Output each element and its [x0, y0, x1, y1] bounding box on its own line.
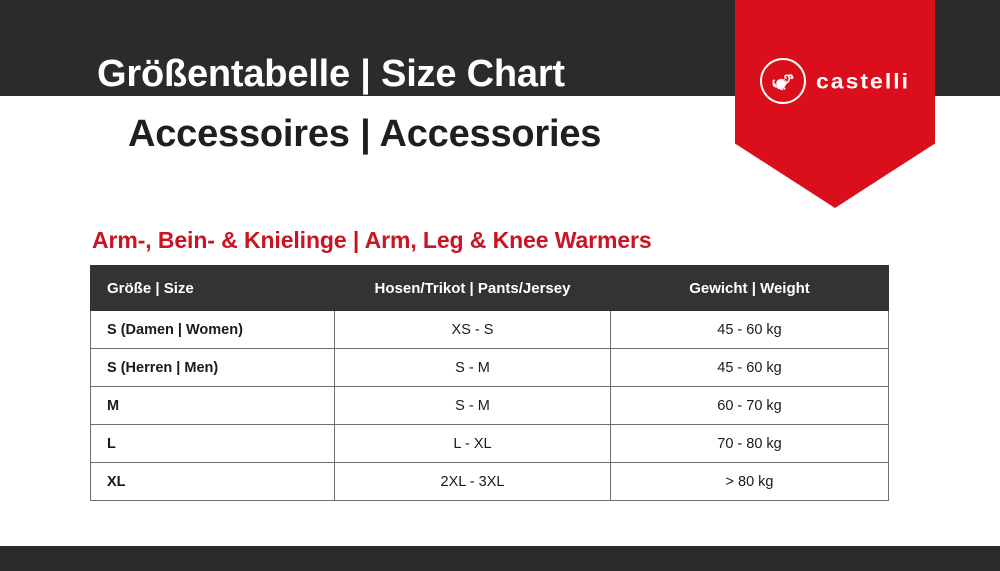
cell-weight: 45 - 60 kg [611, 349, 889, 387]
column-header-size: Größe | Size [91, 266, 335, 311]
table-row: S (Herren | Men) S - M 45 - 60 kg [91, 349, 889, 387]
column-header-fit: Hosen/Trikot | Pants/Jersey [335, 266, 611, 311]
cell-fit: 2XL - 3XL [335, 463, 611, 501]
table-row: XL 2XL - 3XL > 80 kg [91, 463, 889, 501]
section-heading: Arm-, Bein- & Knielinge | Arm, Leg & Kne… [92, 229, 652, 252]
brand-logo-banner: castelli [735, 0, 935, 208]
column-header-weight: Gewicht | Weight [611, 266, 889, 311]
table-header-row: Größe | Size Hosen/Trikot | Pants/Jersey… [91, 266, 889, 311]
cell-size: XL [91, 463, 335, 501]
bottom-dark-band [0, 546, 1000, 571]
brand-logo-lockup: castelli [735, 58, 935, 104]
table-row: S (Damen | Women) XS - S 45 - 60 kg [91, 311, 889, 349]
cell-weight: 70 - 80 kg [611, 425, 889, 463]
page-title-primary: Größentabelle | Size Chart [97, 55, 565, 93]
page-title-secondary: Accessoires | Accessories [128, 115, 601, 153]
brand-wordmark: castelli [816, 70, 910, 91]
cell-size: L [91, 425, 335, 463]
cell-size: S (Damen | Women) [91, 311, 335, 349]
table-row: L L - XL 70 - 80 kg [91, 425, 889, 463]
cell-weight: 60 - 70 kg [611, 387, 889, 425]
size-chart-table: Größe | Size Hosen/Trikot | Pants/Jersey… [90, 265, 889, 501]
cell-size: M [91, 387, 335, 425]
table-row: M S - M 60 - 70 kg [91, 387, 889, 425]
cell-fit: XS - S [335, 311, 611, 349]
cell-size: S (Herren | Men) [91, 349, 335, 387]
cell-fit: S - M [335, 349, 611, 387]
cell-fit: S - M [335, 387, 611, 425]
scorpion-icon [760, 58, 806, 104]
cell-weight: 45 - 60 kg [611, 311, 889, 349]
cell-fit: L - XL [335, 425, 611, 463]
cell-weight: > 80 kg [611, 463, 889, 501]
